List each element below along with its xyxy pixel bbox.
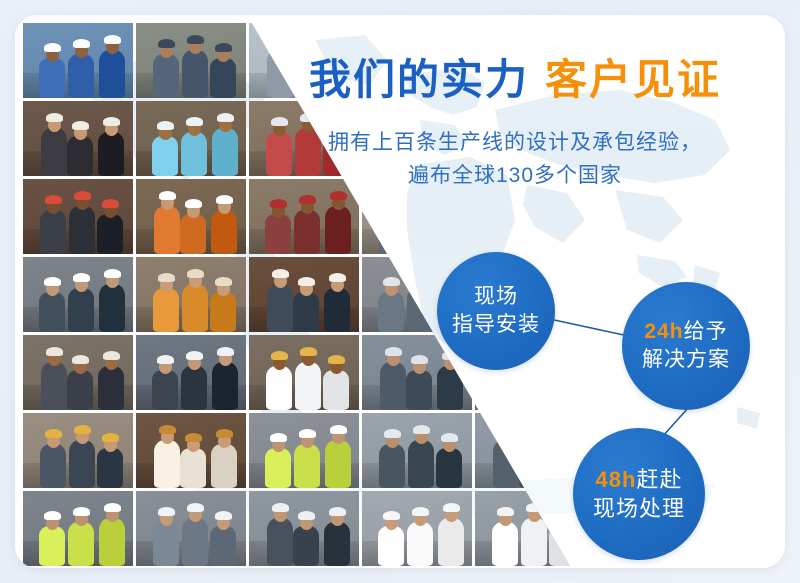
subtitle-line-2: 遍布全球130多个国家 [265, 160, 765, 193]
subtitle-line-1: 拥有上百条生产线的设计及承包经验， [265, 127, 765, 160]
badge-3-line-1: 48h赶赴 [596, 465, 683, 494]
headline-accent: 客户见证 [545, 56, 721, 103]
photo-cell [23, 413, 133, 488]
photo-cell [136, 491, 246, 566]
promo-banner: 我们的实力客户见证 拥有上百条生产线的设计及承包经验， 遍布全球130多个国家 … [0, 0, 800, 583]
badge-2-line-2: 解决方案 [642, 346, 730, 374]
photo-cell [136, 23, 246, 98]
badge-2-line-1-rest: 给予 [684, 320, 728, 343]
badge-1-line-2: 指导安装 [452, 311, 540, 339]
badge-3-highlight: 48h [596, 467, 637, 492]
photo-cell [23, 491, 133, 566]
banner-subtitle: 拥有上百条生产线的设计及承包经验， 遍布全球130多个国家 [265, 127, 765, 192]
photo-cell [23, 257, 133, 332]
banner-content: 我们的实力客户见证 拥有上百条生产线的设计及承包经验， 遍布全球130多个国家 … [265, 15, 785, 568]
photo-cell [23, 23, 133, 98]
badge-3-line-1-rest: 赶赴 [636, 467, 682, 492]
photo-cell [23, 179, 133, 254]
badge-2-line-1: 24h给予 [644, 318, 727, 346]
photo-cell [136, 179, 246, 254]
badge-48h-onsite[interactable]: 48h赶赴 现场处理 [573, 428, 705, 560]
photo-cell [136, 413, 246, 488]
badge-onsite-install[interactable]: 现场 指导安装 [437, 252, 555, 370]
headline-primary: 我们的实力 [309, 56, 529, 103]
badge-1-line-1: 现场 [474, 283, 518, 311]
photo-cell [136, 257, 246, 332]
badge-24h-solution[interactable]: 24h给予 解决方案 [622, 282, 750, 410]
badge-3-line-2: 现场处理 [593, 494, 685, 523]
photo-cell [136, 335, 246, 410]
photo-cell [23, 101, 133, 176]
photo-cell [136, 101, 246, 176]
page-title: 我们的实力客户见证 [265, 57, 765, 103]
photo-cell [23, 335, 133, 410]
banner-card: 我们的实力客户见证 拥有上百条生产线的设计及承包经验， 遍布全球130多个国家 … [15, 15, 785, 568]
badge-2-highlight: 24h [644, 320, 683, 343]
